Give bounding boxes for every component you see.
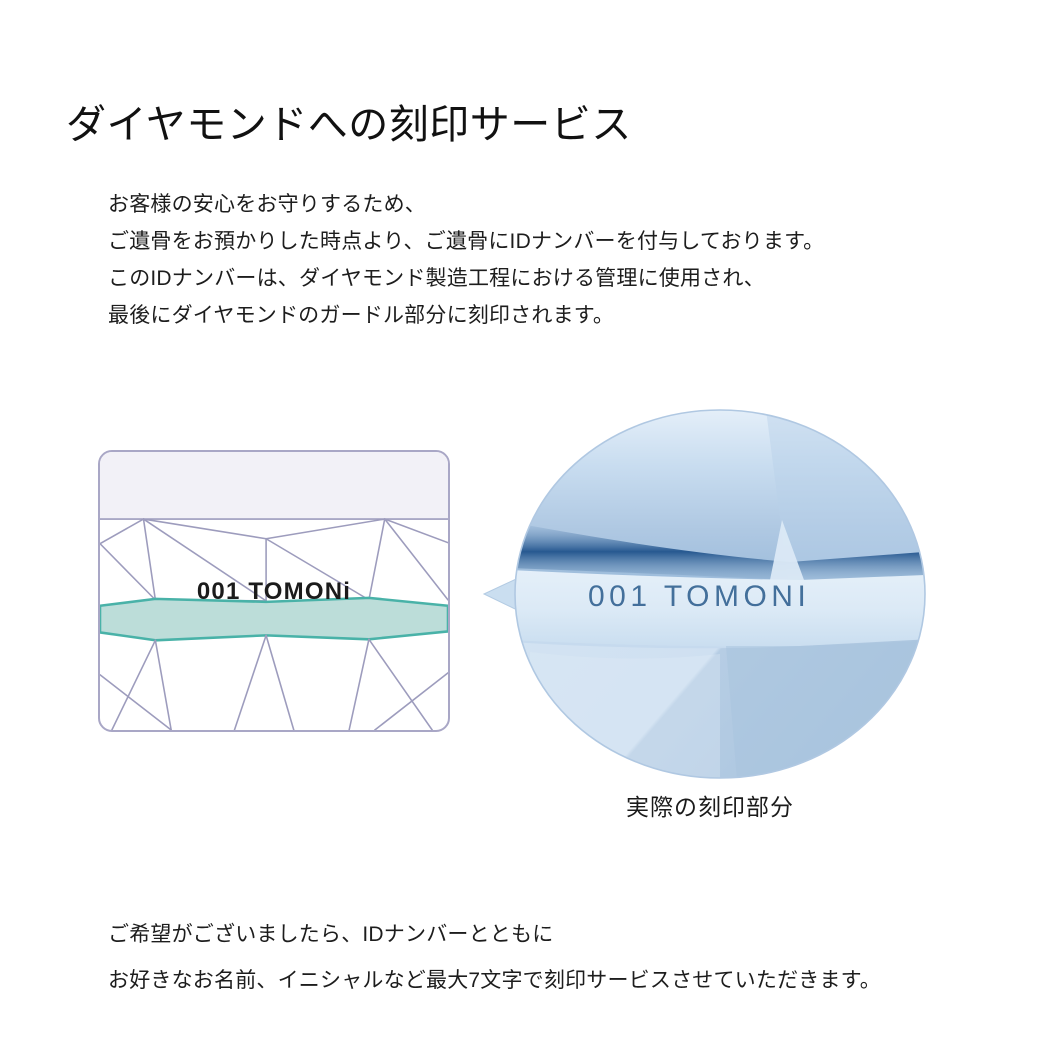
diamond-photo: 001 TOMONI (470, 402, 950, 792)
diamond-girdle-photo-icon (470, 402, 950, 792)
intro-line-2: ご遺骨をお預かりした時点より、ご遺骨にIDナンバーを付与しております。 (108, 223, 968, 260)
outro-paragraph: ご希望がございましたら、IDナンバーとともに お好きなお名前、イニシャルなど最大… (108, 912, 988, 1004)
outro-line-1: ご希望がございましたら、IDナンバーとともに (108, 912, 988, 958)
figure-area: 001 TOMONi (0, 400, 1060, 850)
intro-line-3: このIDナンバーは、ダイヤモンド製造工程における管理に使用され、 (108, 260, 968, 297)
figure-caption: 実際の刻印部分 (470, 788, 950, 822)
diamond-diagram-card: 001 TOMONi (98, 450, 450, 732)
intro-line-4: 最後にダイヤモンドのガードル部分に刻印されます。 (108, 297, 968, 334)
page-title: ダイヤモンドへの刻印サービス (66, 101, 632, 149)
intro-line-1: お客様の安心をお守りするため、 (108, 186, 968, 223)
outro-line-2: お好きなお名前、イニシャルなど最大7文字で刻印サービスさせていただきます。 (108, 958, 988, 1004)
diamond-schematic-icon (100, 452, 448, 730)
intro-paragraph: お客様の安心をお守りするため、 ご遺骨をお預かりした時点より、ご遺骨にIDナンバ… (108, 186, 968, 334)
